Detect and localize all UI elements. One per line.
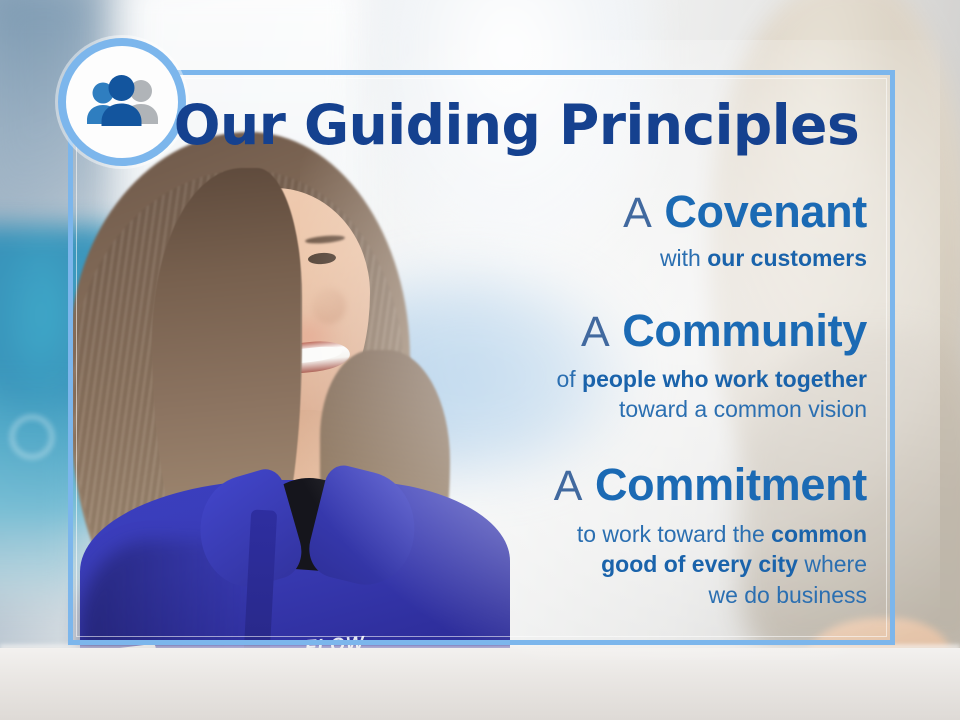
content-layer: Our Guiding Principles A Covenant with o… [68, 70, 895, 645]
subtext-line: toward a common vision [556, 394, 867, 425]
subtext-line: of people who work together [556, 364, 867, 395]
principle-commitment-subtext: to work toward the commongood of every c… [554, 519, 867, 611]
principle-community: A Community of people who work togethert… [556, 307, 867, 425]
subtext-run: we do business [708, 582, 867, 608]
principle-commitment-keyword: Commitment [595, 459, 867, 510]
principle-commitment: A Commitment to work toward the commongo… [554, 461, 867, 610]
page-title: Our Guiding Principles [68, 98, 875, 153]
banner-canvas: FLOW FLOW [0, 0, 960, 720]
principle-covenant-subtext: with our customers [623, 243, 867, 274]
principle-covenant-keyword: Covenant [664, 186, 867, 237]
principle-covenant-heading: A Covenant [623, 188, 867, 237]
subtext-run: with [660, 245, 707, 271]
subtext-run: toward a common vision [619, 396, 867, 422]
subtext-line: good of every city where [554, 549, 867, 580]
subtext-line: with our customers [623, 243, 867, 274]
principle-covenant: A Covenant with our customers [623, 188, 867, 273]
subtext-emphasis: good of every city [601, 551, 798, 577]
subtext-line: we do business [554, 580, 867, 611]
subtext-emphasis: people who work together [582, 366, 867, 392]
principle-community-article: A [581, 308, 610, 356]
blurred-car-emblem-icon [10, 415, 54, 459]
subtext-run: to work toward the [577, 521, 771, 547]
subtext-emphasis: our customers [707, 245, 867, 271]
subtext-emphasis: common [771, 521, 867, 547]
principle-community-keyword: Community [622, 305, 867, 356]
principle-covenant-article: A [623, 189, 652, 237]
principle-community-heading: A Community [556, 307, 867, 356]
subtext-run: where [798, 551, 867, 577]
desk-surface [0, 648, 960, 720]
principle-commitment-article: A [554, 462, 583, 510]
principle-community-subtext: of people who work togethertoward a comm… [556, 364, 867, 425]
subtext-run: of [556, 366, 582, 392]
subtext-line: to work toward the common [554, 519, 867, 550]
principle-commitment-heading: A Commitment [554, 461, 867, 510]
